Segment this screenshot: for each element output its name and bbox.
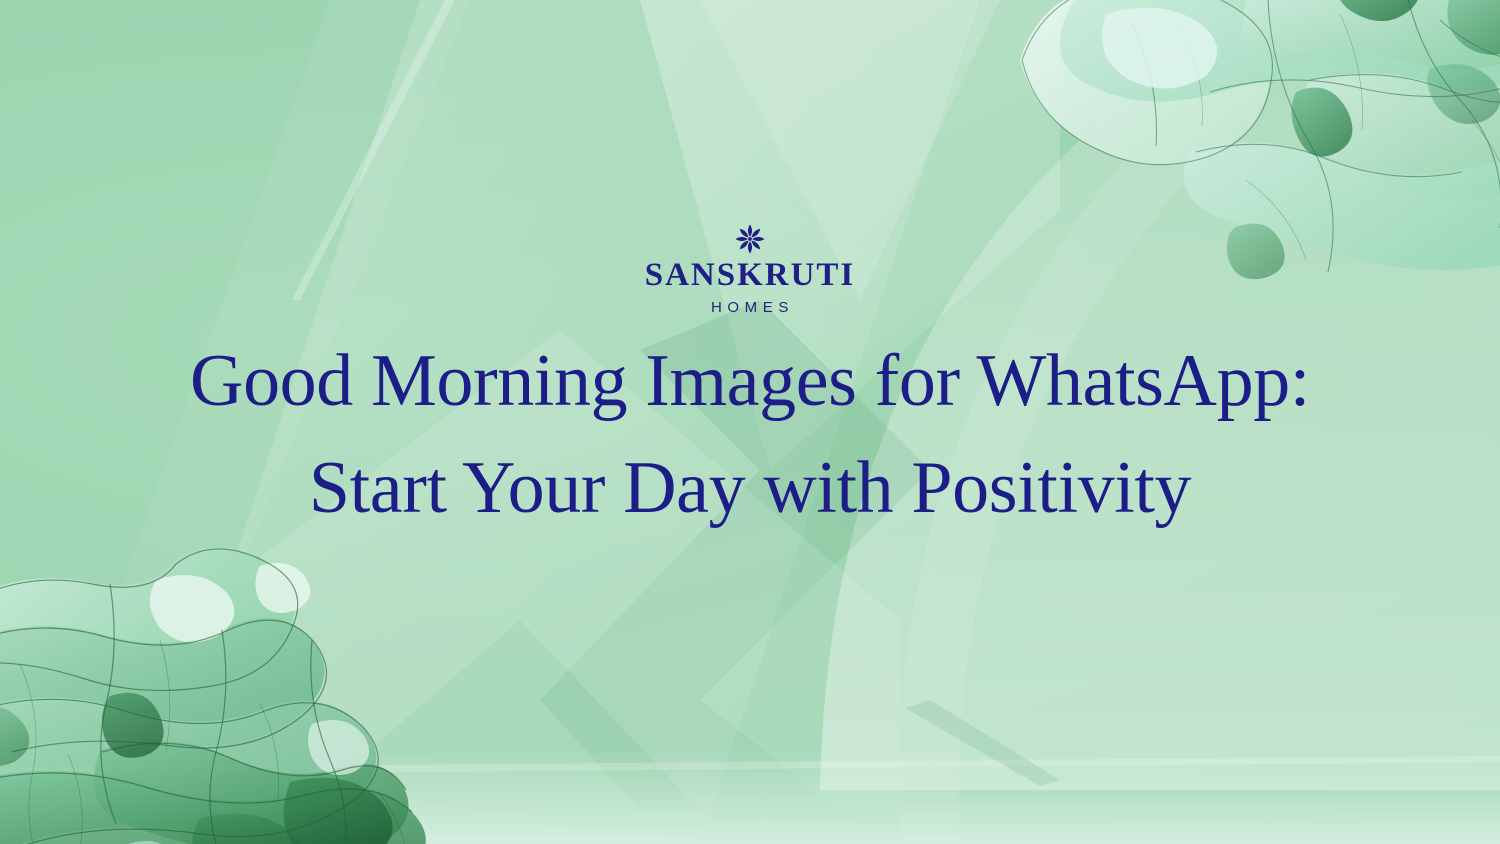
promo-banner: SANSKRUTI HOMES Good Morning Images for … (0, 0, 1500, 844)
page-title: Good Morning Images for WhatsApp: Start … (150, 329, 1350, 541)
page-title-line-2: Start Your Day with Positivity (190, 436, 1310, 541)
brand-wordmark: SANSKRUTI (645, 259, 856, 292)
eight-petal-flower-icon (733, 222, 767, 256)
banner-content: SANSKRUTI HOMES Good Morning Images for … (0, 0, 1500, 844)
brand-logo: SANSKRUTI HOMES (645, 222, 856, 315)
page-title-line-1: Good Morning Images for WhatsApp: (190, 329, 1310, 434)
brand-tagline: HOMES (706, 300, 794, 315)
